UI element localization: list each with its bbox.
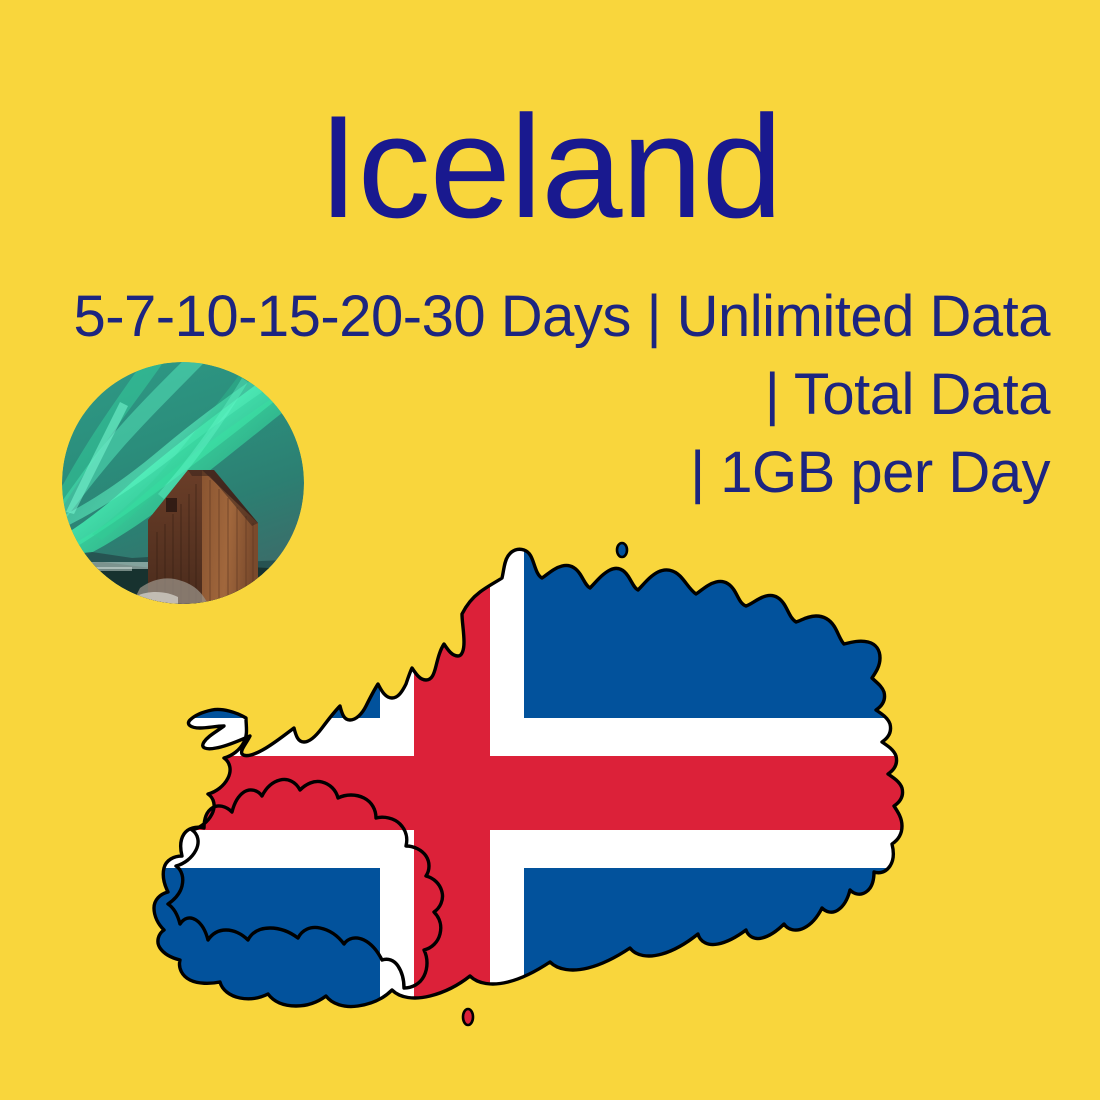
flag-red-vertical-band — [414, 520, 490, 1100]
iceland-map-svg — [150, 520, 950, 1100]
flag-red-horizontal-band — [150, 756, 950, 830]
poster-canvas: Iceland 5-7-10-15-20-30 Days | Unlimited… — [0, 0, 1100, 1100]
subtitle-line-days-unlimited: 5-7-10-15-20-30 Days | Unlimited Data — [40, 278, 1050, 356]
grimsey-island — [617, 543, 627, 557]
vestmannaeyjar-islet — [463, 1009, 473, 1025]
page-title: Iceland — [0, 94, 1100, 240]
iceland-map — [150, 520, 950, 1100]
map-flag-fill — [150, 520, 950, 1100]
